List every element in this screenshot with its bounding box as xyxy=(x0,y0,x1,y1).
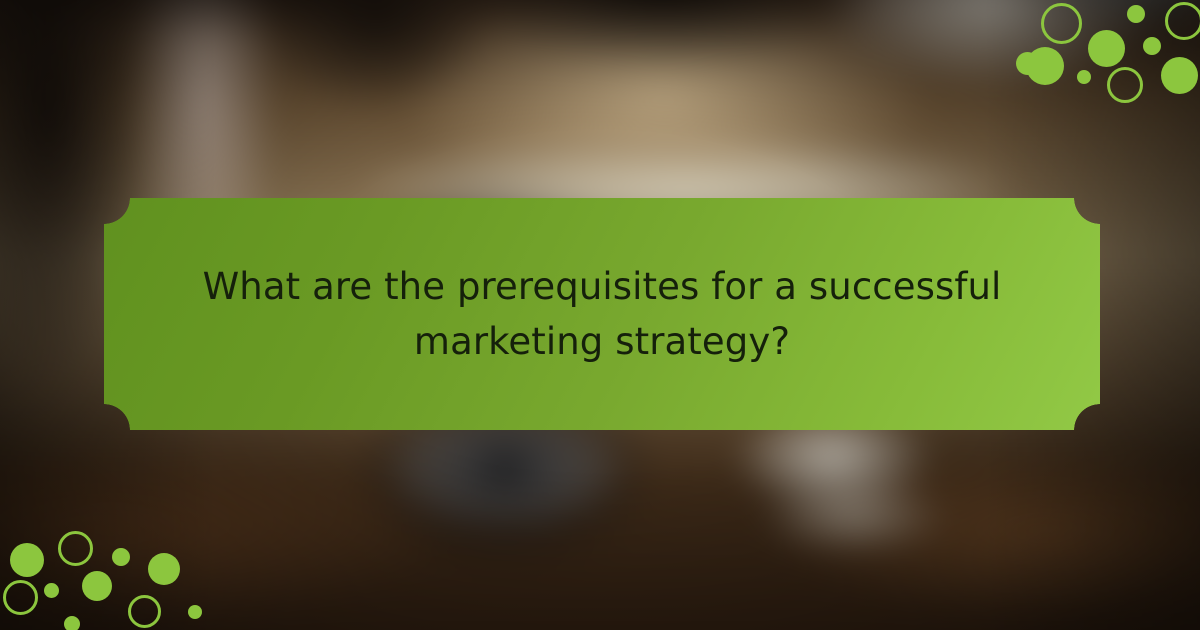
promo-banner-image: What are the prerequisites for a success… xyxy=(0,0,1200,630)
headline-banner: What are the prerequisites for a success… xyxy=(104,198,1100,430)
banner-headline-text: What are the prerequisites for a success… xyxy=(104,198,1100,430)
